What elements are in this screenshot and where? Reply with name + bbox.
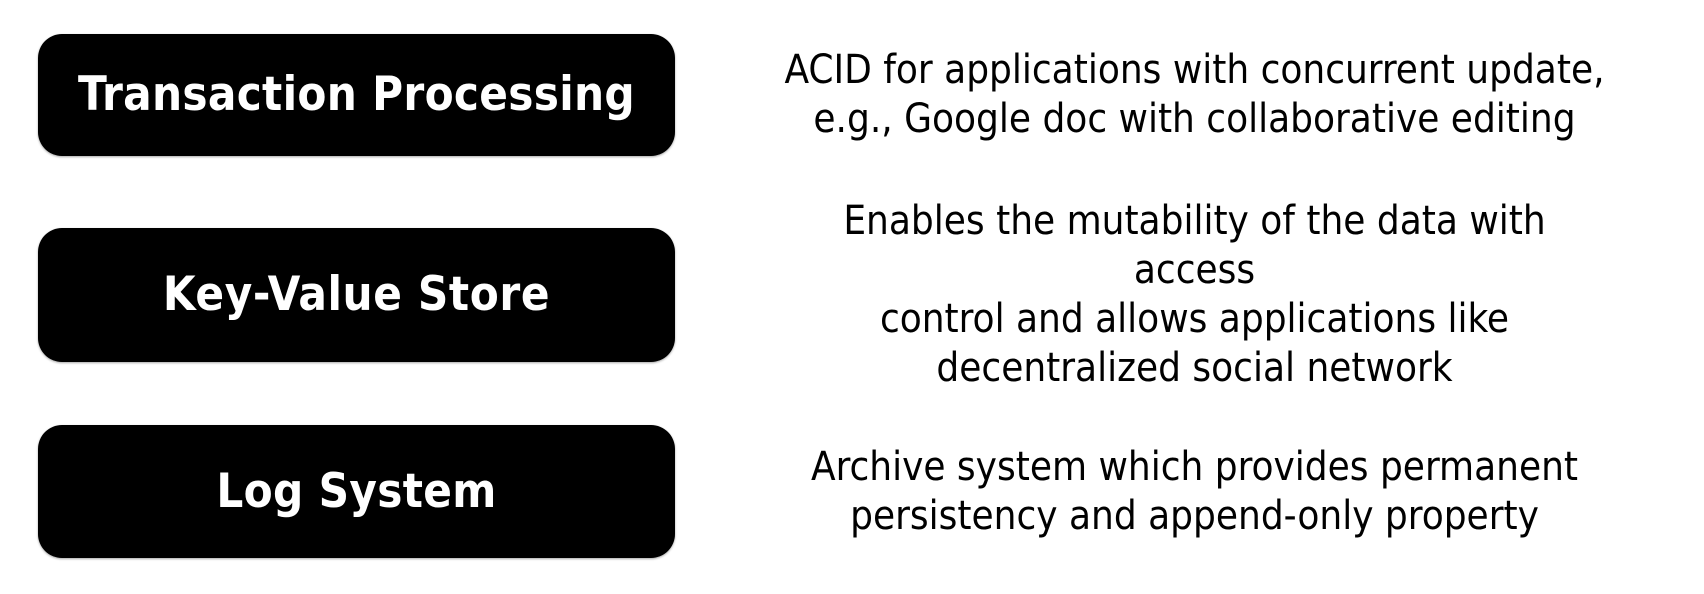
description-line: control and allows applications like (780, 295, 1610, 344)
label-column: Log System (0, 425, 675, 558)
description-line: e.g., Google doc with collaborative edit… (780, 95, 1610, 144)
description-line: ACID for applications with concurrent up… (780, 46, 1610, 95)
label-column: Key-Value Store (0, 228, 675, 362)
description-line: Enables the mutability of the data with … (780, 197, 1610, 295)
layer-box-transaction-processing[interactable]: Transaction Processing (38, 34, 675, 156)
layer-box-label: Key-Value Store (163, 270, 550, 319)
diagram-row-transaction-processing: Transaction Processing ACID for applicat… (0, 34, 1704, 156)
architecture-layers-diagram: Transaction Processing ACID for applicat… (0, 0, 1704, 594)
description-line: Archive system which provides permanent (780, 443, 1610, 492)
layer-description-key-value-store: Enables the mutability of the data with … (780, 197, 1610, 392)
layer-box-key-value-store[interactable]: Key-Value Store (38, 228, 675, 362)
layer-description-transaction-processing: ACID for applications with concurrent up… (780, 46, 1610, 144)
layer-box-label: Log System (216, 467, 496, 516)
layer-box-log-system[interactable]: Log System (38, 425, 675, 558)
description-column: Archive system which provides permanent … (675, 425, 1704, 558)
description-column: Enables the mutability of the data with … (675, 228, 1704, 362)
diagram-row-key-value-store: Key-Value Store Enables the mutability o… (0, 228, 1704, 362)
layer-box-label: Transaction Processing (78, 70, 635, 119)
layer-description-log-system: Archive system which provides permanent … (780, 443, 1610, 541)
description-line: persistency and append-only property (780, 492, 1610, 541)
label-column: Transaction Processing (0, 34, 675, 156)
description-line: decentralized social network (780, 344, 1610, 393)
description-column: ACID for applications with concurrent up… (675, 34, 1704, 156)
diagram-row-log-system: Log System Archive system which provides… (0, 425, 1704, 558)
